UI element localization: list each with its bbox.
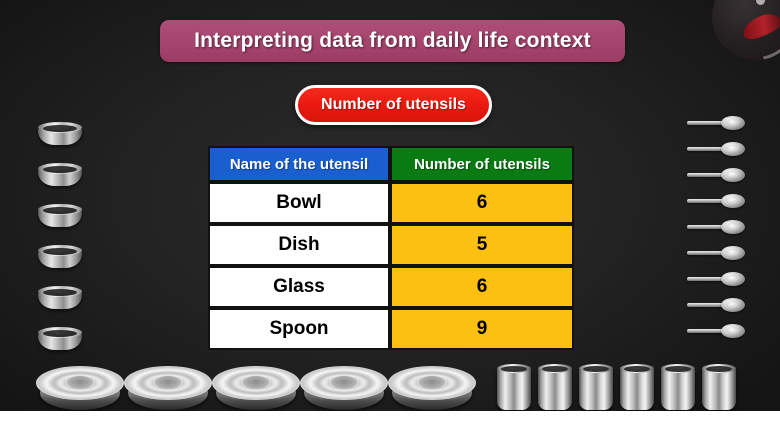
cell-utensil-name: Dish	[208, 224, 390, 266]
page-title: Interpreting data from daily life contex…	[194, 29, 591, 53]
bowl-icon	[38, 163, 82, 187]
spoon-icon	[687, 245, 745, 261]
cell-utensil-count: 9	[390, 308, 574, 350]
utensil-data-table: Name of the utensil Number of utensils B…	[208, 146, 574, 350]
spoon-icon	[687, 167, 745, 183]
spoon-icon	[687, 115, 745, 131]
spoon-icon	[687, 271, 745, 287]
cell-utensil-name: Bowl	[208, 182, 390, 224]
status-badge: Number of utensils	[295, 85, 492, 125]
glass-icon	[579, 364, 613, 412]
bowl-icon	[38, 286, 82, 310]
cell-utensil-count: 6	[390, 182, 574, 224]
dish-icon	[300, 366, 388, 412]
glass-icon	[661, 364, 695, 412]
status-badge-label: Number of utensils	[321, 96, 466, 114]
spoon-icon	[687, 193, 745, 209]
decorative-arc-icon	[703, 0, 780, 75]
bowl-icon	[38, 245, 82, 269]
glass-icon	[497, 364, 531, 412]
spoon-icon	[687, 219, 745, 235]
title-banner: Interpreting data from daily life contex…	[160, 20, 625, 62]
table-row: Dish 5	[208, 224, 574, 266]
spoon-icon	[687, 297, 745, 313]
dish-icon	[124, 366, 212, 412]
column-header-count: Number of utensils	[390, 146, 574, 182]
column-header-name: Name of the utensil	[208, 146, 390, 182]
glass-icon	[702, 364, 736, 412]
table-row: Bowl 6	[208, 182, 574, 224]
bowl-icon	[38, 204, 82, 228]
spoon-icon	[687, 323, 745, 339]
slide-canvas: Interpreting data from daily life contex…	[0, 0, 780, 430]
dish-icon	[212, 366, 300, 412]
table-header-row: Name of the utensil Number of utensils	[208, 146, 574, 182]
cell-utensil-name: Spoon	[208, 308, 390, 350]
glass-icon	[538, 364, 572, 412]
decorative-circle-icon	[712, 0, 780, 60]
spoon-icon	[687, 141, 745, 157]
glass-icon	[620, 364, 654, 412]
cell-utensil-name: Glass	[208, 266, 390, 308]
cell-utensil-count: 6	[390, 266, 574, 308]
bowl-icon	[38, 327, 82, 351]
dish-icon	[388, 366, 476, 412]
table-body: Bowl 6 Dish 5 Glass 6 Spoon 9	[208, 182, 574, 350]
table-header: Name of the utensil Number of utensils	[208, 146, 574, 182]
cell-utensil-count: 5	[390, 224, 574, 266]
dish-icon	[36, 366, 124, 412]
bowl-icon	[38, 122, 82, 146]
table-row: Glass 6	[208, 266, 574, 308]
bottom-strip	[0, 411, 780, 430]
table-row: Spoon 9	[208, 308, 574, 350]
